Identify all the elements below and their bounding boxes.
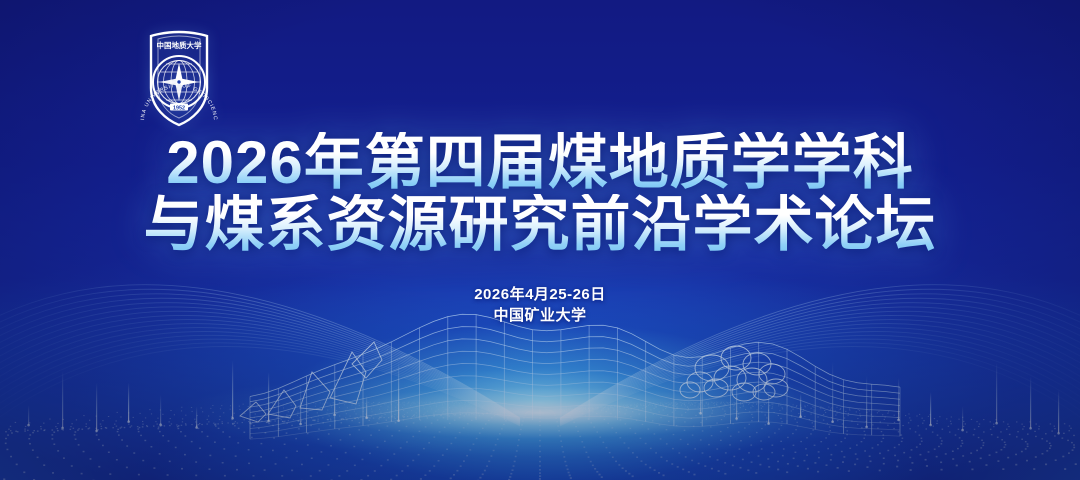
logo-founded-year: 1952	[173, 105, 185, 111]
banner-title-block: 2026年第四届煤地质学学科 与煤系资源研究前沿学术论坛	[0, 132, 1080, 256]
conference-banner: 中国地质大学 19	[0, 0, 1080, 480]
logo-chinese-name: 中国地质大学	[157, 40, 202, 50]
title-line-1: 2026年第四届煤地质学学科	[0, 132, 1080, 194]
compass-star-icon	[159, 63, 199, 101]
title-line-2: 与煤系资源研究前沿学术论坛	[0, 194, 1080, 256]
banner-subtitle-block: 2026年4月25-26日 中国矿业大学	[0, 284, 1080, 326]
university-logo: 中国地质大学 19	[133, 30, 225, 128]
event-venue: 中国矿业大学	[0, 305, 1080, 326]
event-date: 2026年4月25-26日	[0, 284, 1080, 305]
